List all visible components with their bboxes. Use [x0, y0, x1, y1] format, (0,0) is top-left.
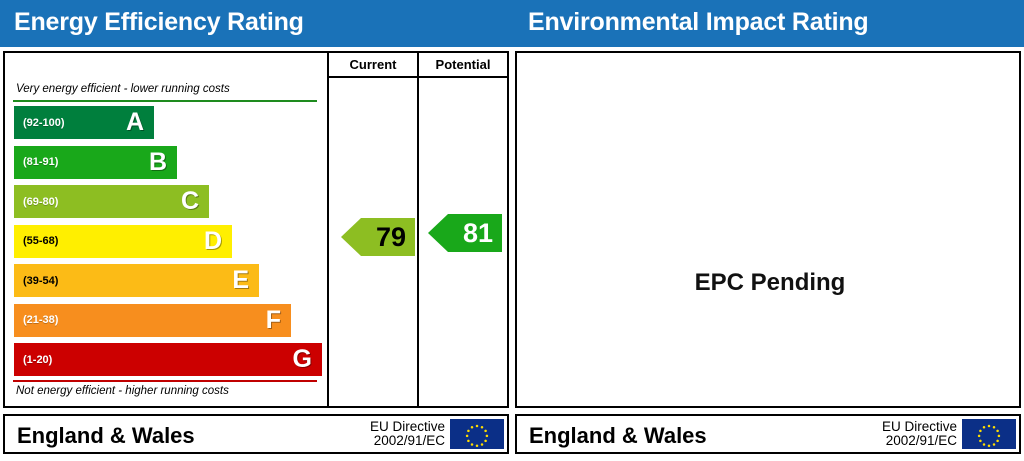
energy-efficiency-title: Energy Efficiency Rating — [14, 8, 304, 37]
caption-top: Very energy efficient - lower running co… — [16, 83, 230, 95]
rating-band-a: (92-100)A — [14, 106, 154, 139]
rating-band-range-f: (21-38) — [23, 314, 58, 326]
footer-region-left: England & Wales — [17, 423, 195, 449]
rating-band-letter-d: D — [204, 229, 222, 254]
footer-right: England & Wales EU Directive 2002/91/EC — [515, 414, 1021, 454]
eu-flag-icon — [450, 419, 504, 449]
footer-directive-right: EU Directive 2002/91/EC — [882, 420, 957, 448]
rating-band-range-g: (1-20) — [23, 354, 52, 366]
column-divider-potential — [417, 53, 419, 406]
rating-band-letter-c: C — [181, 189, 199, 214]
rating-band-f: (21-38)F — [14, 304, 291, 337]
rating-band-range-b: (81-91) — [23, 156, 58, 168]
rating-band-g: (1-20)G — [14, 343, 322, 376]
rating-band-d: (55-68)D — [14, 225, 232, 258]
environmental-impact-header: Environmental Impact Rating — [512, 0, 1024, 47]
rating-band-letter-a: A — [126, 110, 144, 135]
environmental-impact-panel: Environmental Impact Rating EPC Pending … — [512, 0, 1024, 457]
eu-flag-icon — [962, 419, 1016, 449]
epc-pending-message: EPC Pending — [517, 104, 1023, 461]
rating-band-letter-b: B — [149, 150, 167, 175]
footer-directive-left: EU Directive 2002/91/EC — [370, 420, 445, 448]
footer-region-right: England & Wales — [529, 423, 707, 449]
epc-chart-root: Energy Efficiency Rating Current Potenti… — [0, 0, 1024, 457]
rating-band-c: (69-80)C — [14, 185, 209, 218]
rating-band-b: (81-91)B — [14, 146, 177, 179]
rule-line-top — [13, 100, 317, 102]
directive-line-2: 2002/91/EC — [370, 434, 445, 448]
rating-band-range-a: (92-100) — [23, 117, 65, 129]
column-divider-current — [327, 53, 329, 406]
rule-line-bottom — [13, 380, 317, 382]
rating-band-e: (39-54)E — [14, 264, 259, 297]
directive-line-1: EU Directive — [370, 420, 445, 434]
rating-band-letter-g: G — [293, 347, 312, 372]
rating-arrow-current: 79 — [341, 218, 415, 256]
energy-efficiency-chart-body: Current Potential Very energy efficient … — [3, 51, 509, 408]
rating-scale: Very energy efficient - lower running co… — [5, 78, 325, 406]
rating-band-range-c: (69-80) — [23, 196, 58, 208]
rating-band-range-e: (39-54) — [23, 275, 58, 287]
column-header-current: Current — [327, 53, 417, 78]
directive-line-1: EU Directive — [882, 420, 957, 434]
column-header-potential: Potential — [417, 53, 507, 78]
footer-left: England & Wales EU Directive 2002/91/EC — [3, 414, 509, 454]
rating-arrow-potential: 81 — [428, 214, 502, 252]
energy-efficiency-panel: Energy Efficiency Rating Current Potenti… — [0, 0, 512, 457]
rating-band-letter-f: F — [266, 308, 281, 333]
energy-efficiency-header: Energy Efficiency Rating — [0, 0, 512, 47]
directive-line-2: 2002/91/EC — [882, 434, 957, 448]
environmental-impact-title: Environmental Impact Rating — [528, 8, 869, 37]
caption-bottom: Not energy efficient - higher running co… — [16, 385, 229, 397]
environmental-impact-chart-body: EPC Pending — [515, 51, 1021, 408]
rating-band-letter-e: E — [232, 268, 249, 293]
rating-band-range-d: (55-68) — [23, 235, 58, 247]
